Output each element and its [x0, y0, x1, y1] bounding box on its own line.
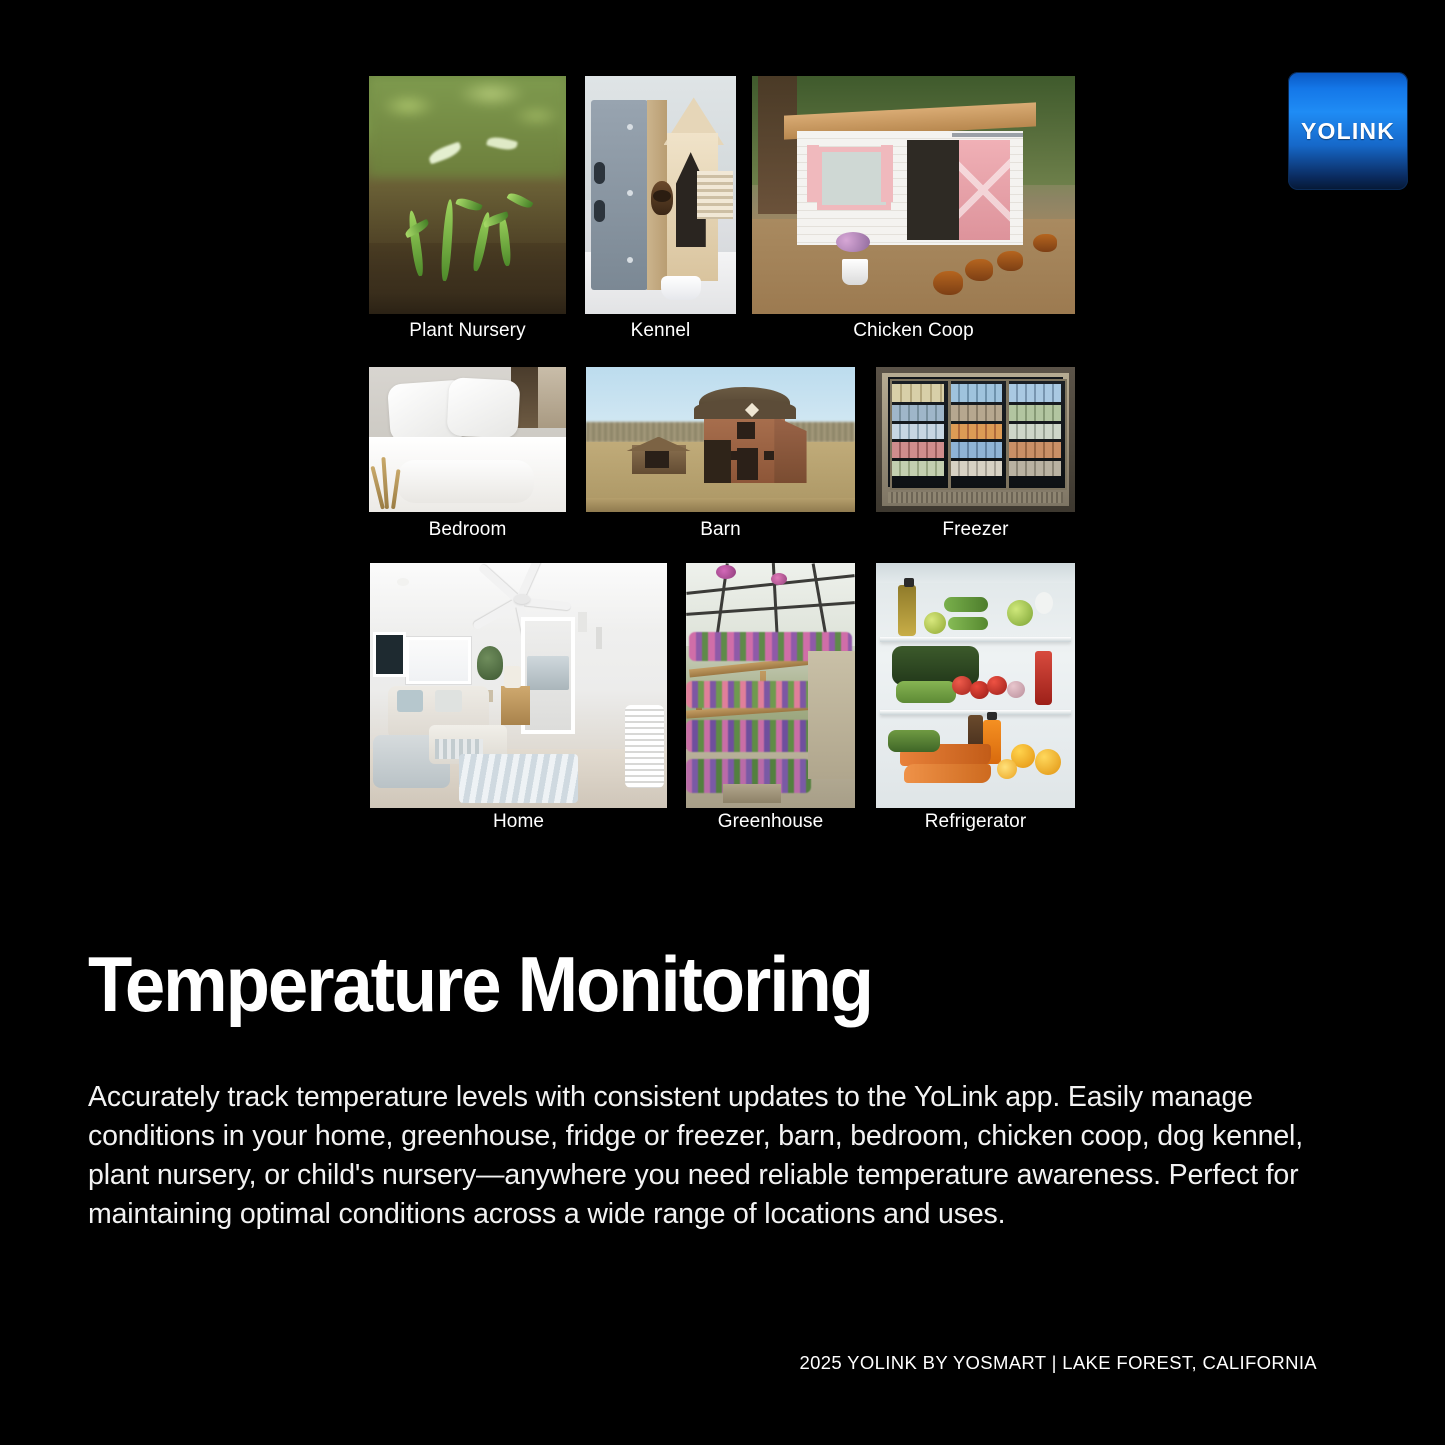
gallery-item-greenhouse: Greenhouse	[686, 563, 855, 808]
footer-copyright: 2025 YOLINK BY YOSMART | LAKE FOREST, CA…	[799, 1352, 1317, 1374]
gallery-item-freezer: Freezer	[876, 367, 1075, 512]
gallery-item-home: Home	[370, 563, 667, 808]
gallery-label: Kennel	[585, 320, 736, 342]
page-title: Temperature Monitoring	[88, 942, 872, 1026]
gallery-item-kennel: Kennel	[585, 76, 736, 314]
gallery-label: Greenhouse	[686, 811, 855, 833]
gallery-label: Refrigerator	[876, 811, 1075, 833]
gallery-item-bedroom: Bedroom	[369, 367, 566, 512]
description-text: Accurately track temperature levels with…	[88, 1078, 1316, 1234]
gallery-label: Bedroom	[369, 519, 566, 541]
gallery-item-chicken-coop: Chicken Coop	[752, 76, 1075, 314]
thumbnail-bedroom	[369, 367, 566, 512]
thumbnail-chicken-coop	[752, 76, 1075, 314]
gallery-label: Barn	[586, 519, 855, 541]
gallery-label: Chicken Coop	[752, 320, 1075, 342]
thumbnail-greenhouse	[686, 563, 855, 808]
gallery-label: Freezer	[876, 519, 1075, 541]
thumbnail-kennel	[585, 76, 736, 314]
gallery-label: Home	[370, 811, 667, 833]
gallery-item-plant-nursery: Plant Nursery	[369, 76, 566, 314]
thumbnail-home	[370, 563, 667, 808]
gallery-label: Plant Nursery	[369, 320, 566, 342]
thumbnail-barn	[586, 367, 855, 512]
gallery-item-barn: Barn	[586, 367, 855, 512]
gallery-item-refrigerator: Refrigerator	[876, 563, 1075, 808]
thumbnail-plant-nursery	[369, 76, 566, 314]
thumbnail-refrigerator	[876, 563, 1075, 808]
thumbnail-freezer	[876, 367, 1075, 512]
use-case-gallery: Plant Nursery Kennel	[0, 0, 1445, 880]
